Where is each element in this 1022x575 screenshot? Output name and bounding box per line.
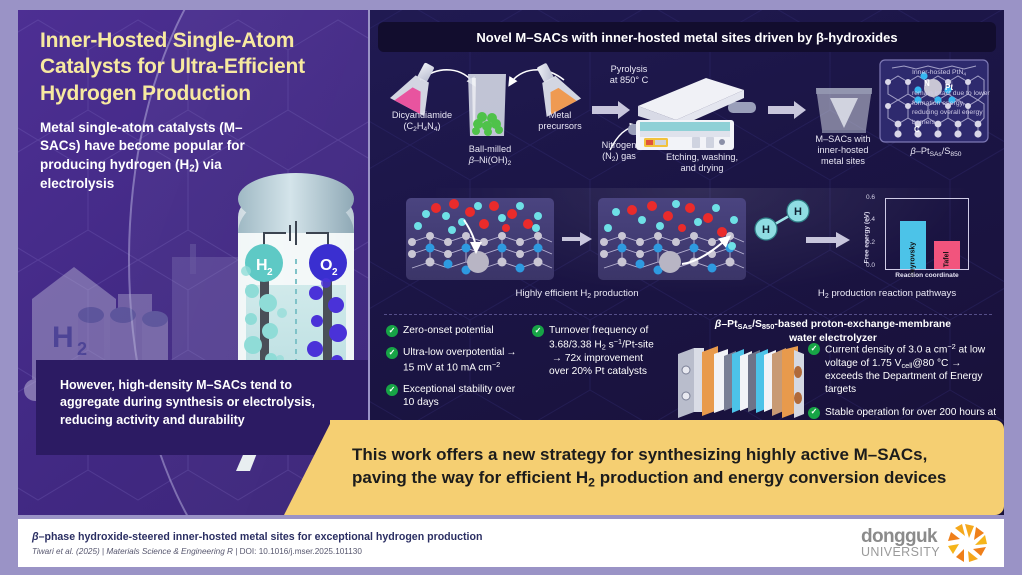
bullet-stability: ✓ Exceptional stability over 10 days (386, 383, 528, 410)
svg-text:H: H (762, 224, 770, 236)
limitation-ribbon: However, high-density M–SACs tend to agg… (36, 360, 368, 455)
synthesis-flow-panel: N Pt C Dicyandiamide(C2H4N4) Ball-milled… (382, 58, 994, 178)
h2-plant-label: H (52, 321, 74, 354)
chart-ytick-2: 0.2 (855, 239, 875, 246)
svg-text:2: 2 (77, 339, 87, 359)
caption-reaction-pathways: H2 production reaction pathways (782, 288, 992, 300)
svg-text:2: 2 (267, 267, 273, 278)
svg-text:2: 2 (332, 267, 338, 278)
bullet-text: Zero-onset potential (403, 325, 494, 336)
chart-bar-heyrovsky: Heyrovsky (900, 221, 926, 269)
results-mid-bullets: ✓ Turnover frequency of 3.68/3.38 H2 s−1… (532, 324, 660, 388)
sep-2: | (233, 547, 240, 556)
authors: Tiwari et al. (2025) (32, 547, 100, 556)
caption-efficient-production: Highly efficient H2 production (452, 288, 702, 300)
svg-text:H: H (794, 206, 802, 218)
mechanism-panel: H H Free energy (eV) 0.6 0.4 0.2 0.0 Hey… (382, 188, 994, 314)
svg-text:H: H (256, 257, 268, 274)
pinwheel-logo-icon (946, 523, 988, 563)
check-icon: ✓ (808, 407, 820, 419)
chart-ytick-0: 0.6 (855, 194, 875, 201)
panel-divider (384, 314, 992, 315)
bullet-turnover-frequency: ✓ Turnover frequency of 3.68/3.38 H2 s−1… (532, 324, 660, 379)
chart-ytick-1: 0.4 (855, 216, 875, 223)
banner-title: Novel M–SACs with inner-hosted metal sit… (476, 30, 897, 45)
bullet-zero-onset: ✓ Zero-onset potential (386, 324, 528, 337)
free-energy-bar-chart: Free energy (eV) 0.6 0.4 0.2 0.0 Heyrovs… (857, 194, 977, 288)
lattice-annotation: Inner-hosted PtN4 ↓ remain intact due to… (912, 68, 992, 128)
check-icon: ✓ (386, 325, 398, 337)
doi[interactable]: DOI: 10.1016/j.mser.2025.101130 (240, 547, 362, 556)
limitation-text: However, high-density M–SACs tend to agg… (60, 377, 340, 429)
logo-subtitle: UNIVERSITY (861, 546, 940, 560)
label-dicyandiamide: Dicyandiamide(C2H4N4) (380, 110, 464, 134)
check-icon: ✓ (808, 343, 820, 355)
label-ball-milled: Ball-milledβ–Ni(OH)2 (452, 144, 528, 168)
logo-name: dongguk (861, 527, 940, 546)
paper-reference: Tiwari et al. (2025) | Materials Science… (32, 547, 772, 556)
label-lattice-caption: β–PtSAs/S850 (882, 146, 990, 159)
chart-plot-area: Heyrovsky Tafel (885, 198, 969, 270)
left-panel: H 2 Inner-Hosted Single-Atom Catalysts f… (18, 10, 368, 515)
check-icon: ✓ (386, 347, 398, 359)
chart-xlabel: Reaction coordinate (885, 272, 969, 279)
citation-block: β–phase hydroxide-steered inner-hosted m… (32, 531, 772, 556)
md-snapshot-2 (598, 198, 746, 280)
label-etching: Etching, washing,and drying (644, 152, 760, 174)
bullet-current-density: ✓ Current density of 3.0 a cm−2 at low v… (808, 342, 1000, 397)
journal: Materials Science & Engineering R (106, 547, 233, 556)
paper-title: β–phase hydroxide-steered inner-hosted m… (32, 531, 772, 543)
bullet-text: Exceptional stability over 10 days (403, 384, 515, 408)
infographic-root: H 2 Inner-Hosted Single-Atom Catalysts f… (0, 0, 1022, 575)
label-metal-precursors: Metalprecursors (528, 110, 592, 132)
label-msacs-product: M–SACs withinner-hostedmetal sites (794, 134, 892, 167)
page-title: Inner-Hosted Single-Atom Catalysts for U… (40, 28, 340, 107)
chart-bar-tafel: Tafel (934, 241, 960, 269)
callout-text: This work offers a new strategy for synt… (352, 444, 972, 490)
results-left-bullets: ✓ Zero-onset potential ✓ Ultra-low overp… (386, 324, 528, 419)
logo-text: dongguk UNIVERSITY (861, 527, 940, 560)
key-takeaway-callout: This work offers a new strategy for synt… (330, 420, 1004, 515)
footer-bar: β–phase hydroxide-steered inner-hosted m… (18, 519, 1004, 567)
bullet-overpotential: ✓ Ultra-low overpotential →15 mV at 10 m… (386, 346, 528, 374)
chart-bar-label-1: Tafel (944, 252, 951, 268)
mechanism-arrow-2 (806, 232, 850, 248)
svg-text:O: O (320, 257, 332, 274)
section-banner: Novel M–SACs with inner-hosted metal sit… (378, 22, 996, 52)
check-icon: ✓ (532, 325, 544, 337)
chart-ytick-3: 0.0 (855, 262, 875, 269)
label-pyrolysis: Pyrolysisat 850° C (594, 64, 664, 86)
md-snapshot-1 (406, 198, 554, 280)
mechanism-arrow-1 (562, 232, 592, 246)
check-icon: ✓ (386, 384, 398, 396)
university-logo: dongguk UNIVERSITY (861, 523, 988, 563)
label-nitrogen: Nitrogen(N2) gas (588, 140, 650, 164)
electrolyzer-stack-illustration (674, 340, 804, 428)
